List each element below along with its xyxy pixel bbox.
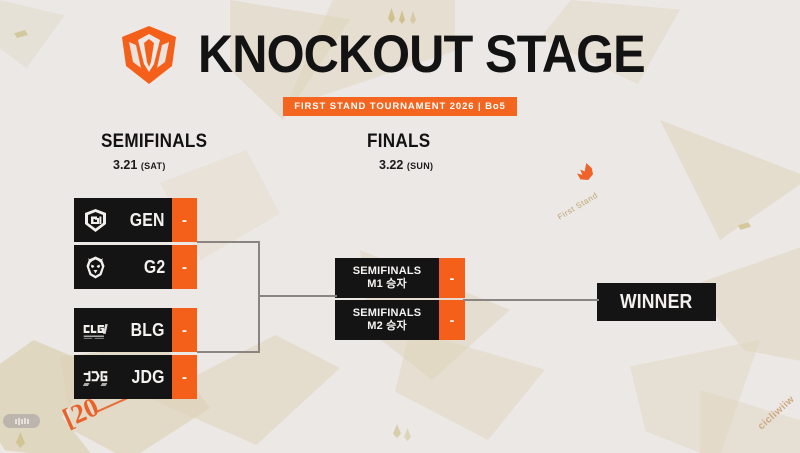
round-label-semifinals: SEMIFINALS 3.21 (SAT): [101, 131, 219, 172]
table-row[interactable]: GEN -: [74, 198, 197, 242]
round-date: 3.22 (SUN): [367, 158, 437, 172]
table-row[interactable]: BLG -: [74, 308, 197, 352]
jdg-logo-icon: [82, 364, 109, 391]
corner-watermark-badge: [3, 414, 40, 428]
background-petal-shape: [395, 330, 545, 440]
blg-logo-icon: [82, 317, 109, 344]
team-name: GEN: [130, 210, 165, 231]
background-leaf-icon: [404, 428, 411, 441]
page-header: KNOCKOUT STAGE FIRST STAND TOURNAMENT 20…: [0, 22, 800, 116]
flame-icon: [577, 163, 593, 180]
final-match: SEMIFINALS M1 승자 - SEMIFINALS M2 승자 -: [335, 258, 465, 340]
geng-logo-icon: [82, 207, 109, 234]
team-name: G2: [144, 257, 165, 278]
bracket-connector-line: [463, 299, 599, 301]
winner-label: WINNER: [620, 291, 692, 314]
team-score[interactable]: -: [172, 355, 197, 399]
table-row[interactable]: JDG -: [74, 355, 197, 399]
background-leaf-icon: [738, 222, 751, 230]
table-row[interactable]: SEMIFINALS M1 승자 -: [335, 258, 465, 298]
first-stand-watermark: First Stand: [556, 191, 599, 222]
background-leaf-icon: [393, 424, 401, 438]
knockout-stage-bracket-graphic: First Stand cicliwiiw [20 KNOCKOUT STAGE…: [0, 0, 800, 453]
final-slot-line1: SEMIFINALS: [353, 308, 422, 320]
title-row: KNOCKOUT STAGE: [116, 22, 684, 88]
team-score[interactable]: -: [172, 198, 197, 242]
bracket-connector-line: [258, 241, 260, 353]
round-name: FINALS: [367, 131, 430, 153]
table-row[interactable]: SEMIFINALS M2 승자 -: [335, 300, 465, 340]
semifinal-match-1: GEN - G2 -: [74, 198, 197, 289]
bracket-connector-line: [197, 241, 260, 243]
background-petal-shape: [660, 120, 800, 240]
team-score[interactable]: -: [172, 308, 197, 352]
background-leaf-icon: [16, 432, 25, 448]
semifinal-match-2: BLG - JDG -: [74, 308, 197, 399]
round-date-value: 3.22: [379, 158, 403, 172]
team-info: BLG: [74, 308, 172, 352]
round-date-value: 3.21: [113, 158, 137, 172]
bottom-right-watermark: cicliwiiw: [756, 394, 797, 432]
team-info: JDG: [74, 355, 172, 399]
round-day-value: (SUN): [407, 161, 434, 171]
round-day-value: (SAT): [141, 161, 166, 171]
final-slot-line1: SEMIFINALS: [353, 266, 422, 278]
final-slot-score[interactable]: -: [439, 300, 465, 340]
page-title: KNOCKOUT STAGE: [198, 31, 645, 80]
final-slot-line2: M2 승자: [367, 321, 407, 333]
final-slot-line2: M1 승자: [367, 279, 407, 291]
winner-box[interactable]: WINNER: [597, 283, 716, 321]
team-info: G2: [74, 245, 172, 289]
tournament-badge: FIRST STAND TOURNAMENT 2026 | Bo5: [283, 97, 516, 116]
first-stand-shield-icon: [116, 22, 182, 88]
background-petal-shape: [630, 340, 760, 453]
background-leaf-icon: [388, 8, 395, 23]
background-petal-shape: [700, 390, 800, 453]
round-label-finals: FINALS 3.22 (SUN): [367, 131, 437, 172]
round-name: SEMIFINALS: [101, 131, 207, 153]
team-name: JDG: [132, 367, 165, 388]
g2-samurai-logo-icon: [82, 254, 109, 281]
final-slot-score[interactable]: -: [439, 258, 465, 298]
team-name: BLG: [131, 320, 165, 341]
round-date: 3.21 (SAT): [101, 158, 219, 172]
bracket-connector-line: [197, 351, 260, 353]
table-row[interactable]: G2 -: [74, 245, 197, 289]
bracket-connector-line: [258, 295, 337, 297]
team-score[interactable]: -: [172, 245, 197, 289]
final-slot-info: SEMIFINALS M2 승자: [335, 300, 439, 340]
team-info: GEN: [74, 198, 172, 242]
final-slot-info: SEMIFINALS M1 승자: [335, 258, 439, 298]
